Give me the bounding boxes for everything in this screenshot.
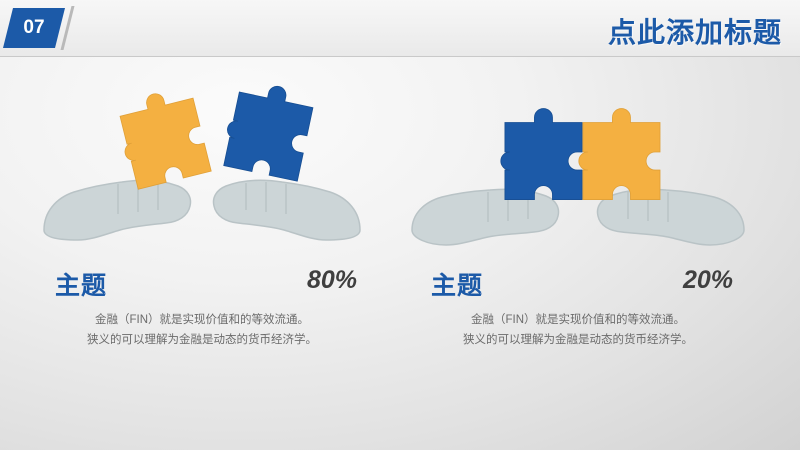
content-group-right: 主题 20% 金融（FIN）就是实现价值和的等效流通。 狭义的可以理解为金融是动… [398,80,758,390]
description-right: 金融（FIN）就是实现价值和的等效流通。 狭义的可以理解为金融是动态的货币经济学… [413,310,743,350]
section-number-badge: 07 [3,8,65,48]
hand-shape-right [598,189,745,245]
description-left: 金融（FIN）就是实现价值和的等效流通。 狭义的可以理解为金融是动态的货币经济学… [37,310,367,350]
hand-shape-right [214,180,361,240]
hand-shape-left [412,189,559,245]
slide: 07 点此添加标题 [0,0,800,450]
puzzle-piece-orange [579,109,660,200]
section-number-label: 07 [8,8,60,48]
description-line-2: 狭义的可以理解为金融是动态的货币经济学。 [413,330,743,350]
label-row-left: 主题 80% [37,266,367,300]
topic-label-left: 主题 [55,266,107,302]
description-line-1: 金融（FIN）就是实现价值和的等效流通。 [413,310,743,330]
label-row-right: 主题 20% [413,266,743,300]
puzzle-piece-blue [501,109,582,200]
slide-header: 07 点此添加标题 [0,0,800,57]
topic-label-right: 主题 [431,266,483,302]
content-group-left: 主题 80% 金融（FIN）就是实现价值和的等效流通。 狭义的可以理解为金融是动… [22,80,382,390]
percent-value-left: 80% [307,266,357,295]
puzzle-piece-blue [220,80,316,181]
header-divider [0,56,800,57]
description-line-2: 狭义的可以理解为金融是动态的货币经济学。 [37,330,367,350]
percent-value-right: 20% [683,266,733,295]
description-line-1: 金融（FIN）就是实现价值和的等效流通。 [37,310,367,330]
puzzle-hands-illustration-left [22,80,382,250]
puzzle-piece-orange [113,85,211,190]
page-title: 点此添加标题 [608,11,782,51]
hand-shape-left [44,180,191,240]
puzzle-hands-illustration-right [398,80,758,250]
